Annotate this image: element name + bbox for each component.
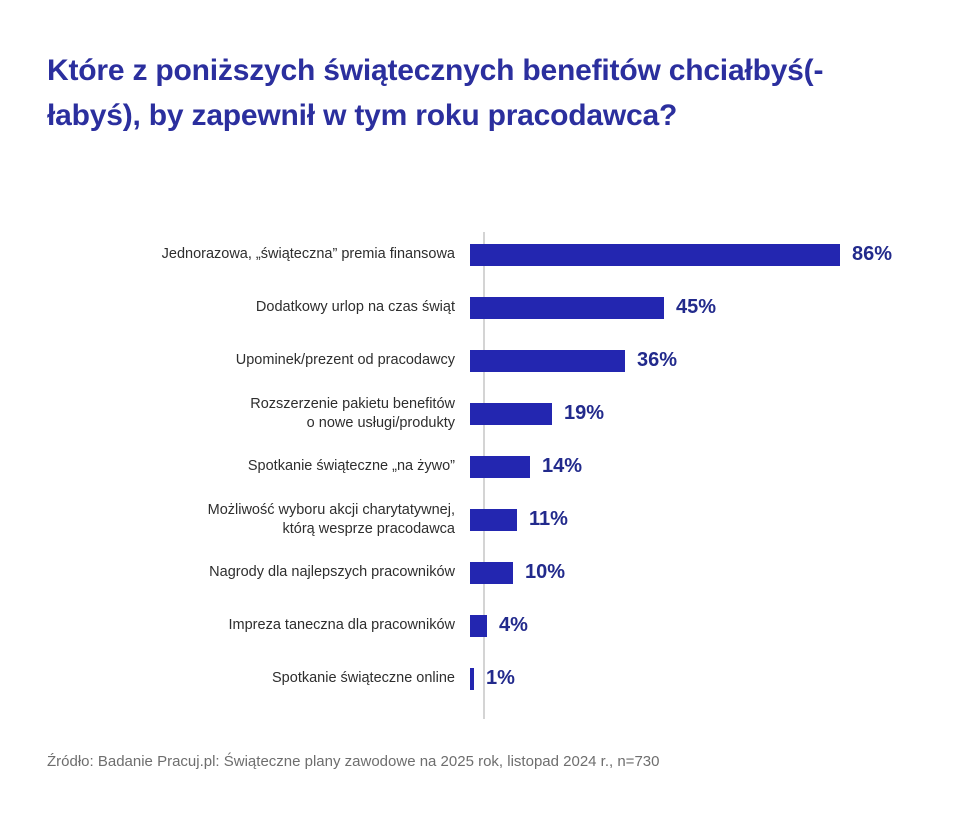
bar-value-label: 19%	[564, 402, 604, 425]
bar	[470, 403, 552, 425]
bar-row: Rozszerzenie pakietu benefitów o nowe us…	[0, 387, 960, 440]
bar	[470, 509, 517, 531]
bar	[470, 244, 840, 266]
bar-track: 11%	[470, 493, 960, 546]
bar-category-label: Nagrody dla najlepszych pracowników	[0, 563, 470, 582]
bar-track: 4%	[470, 599, 960, 652]
bar	[470, 350, 625, 372]
bar-category-label: Spotkanie świąteczne online	[0, 669, 470, 688]
bar-value-label: 10%	[525, 561, 565, 584]
bar-category-label: Spotkanie świąteczne „na żywo”	[0, 457, 470, 476]
bar-track: 14%	[470, 440, 960, 493]
bar-row: Nagrody dla najlepszych pracowników10%	[0, 546, 960, 599]
bar-value-label: 1%	[486, 667, 515, 690]
bar-category-label: Dodatkowy urlop na czas świąt	[0, 298, 470, 317]
bar-track: 36%	[470, 334, 960, 387]
bar-row: Spotkanie świąteczne online1%	[0, 652, 960, 705]
bar	[470, 615, 487, 637]
bar-track: 19%	[470, 387, 960, 440]
bar-category-label: Upominek/prezent od pracodawcy	[0, 351, 470, 370]
bar-category-label: Możliwość wyboru akcji charytatywnej, kt…	[0, 501, 470, 539]
bar-row: Spotkanie świąteczne „na żywo”14%	[0, 440, 960, 493]
page-title: Które z poniższych świątecznych benefitó…	[47, 48, 847, 138]
bar-value-label: 11%	[529, 508, 568, 531]
source-note: Źródło: Badanie Pracuj.pl: Świąteczne pl…	[47, 752, 659, 772]
bar-row: Impreza taneczna dla pracowników4%	[0, 599, 960, 652]
bar-category-label: Rozszerzenie pakietu benefitów o nowe us…	[0, 395, 470, 433]
bar-track: 1%	[470, 652, 960, 705]
bar-value-label: 86%	[852, 243, 892, 266]
bar-chart: Jednorazowa, „świąteczna” premia finanso…	[0, 228, 960, 720]
bar-value-label: 36%	[637, 349, 677, 372]
bar-track: 45%	[470, 281, 960, 334]
bar	[470, 297, 664, 319]
bar-value-label: 4%	[499, 614, 528, 637]
bar-rows: Jednorazowa, „świąteczna” premia finanso…	[0, 228, 960, 705]
bar-row: Jednorazowa, „świąteczna” premia finanso…	[0, 228, 960, 281]
bar	[470, 456, 530, 478]
bar-row: Możliwość wyboru akcji charytatywnej, kt…	[0, 493, 960, 546]
bar-value-label: 14%	[542, 455, 582, 478]
bar-track: 86%	[470, 228, 960, 281]
bar-value-label: 45%	[676, 296, 716, 319]
bar-row: Upominek/prezent od pracodawcy36%	[0, 334, 960, 387]
bar-category-label: Impreza taneczna dla pracowników	[0, 616, 470, 635]
chart-page: Które z poniższych świątecznych benefitó…	[0, 0, 960, 821]
bar	[470, 668, 474, 690]
bar-category-label: Jednorazowa, „świąteczna” premia finanso…	[0, 245, 470, 264]
bar	[470, 562, 513, 584]
bar-track: 10%	[470, 546, 960, 599]
bar-row: Dodatkowy urlop na czas świąt45%	[0, 281, 960, 334]
